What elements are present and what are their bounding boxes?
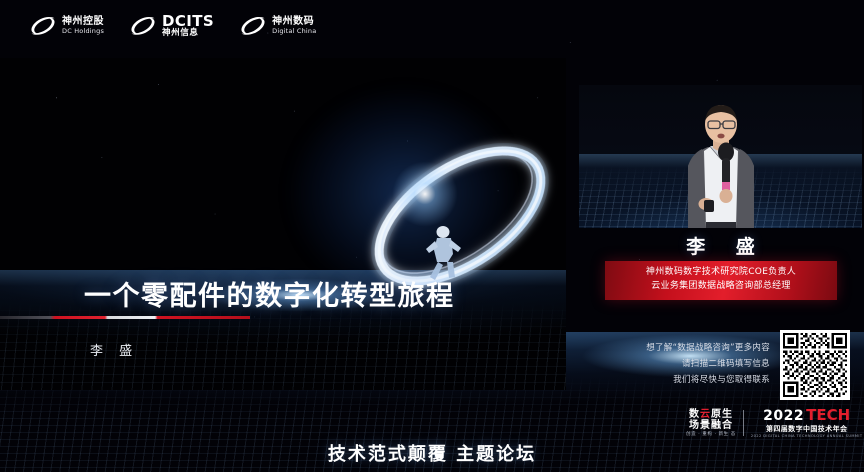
- forum-title-text: 技术范式颠覆 主题论坛: [328, 444, 536, 465]
- slide-speaker-name: 李 盛: [90, 340, 138, 359]
- event-theme-line-1-b: 原生: [711, 409, 733, 420]
- event-branding: 数云原生 场景融合 创造 · 重构 · 新生 态 2022TECH 第四届数字中…: [686, 408, 862, 438]
- speaker-role-banner: 神州数码数字技术研究院COE负责人 云业务集团数据战略咨询部总经理: [605, 261, 837, 300]
- event-year-row: 2022TECH: [763, 408, 850, 424]
- swoosh-icon: [30, 16, 56, 36]
- swoosh-icon: [130, 16, 156, 36]
- branding-divider: [743, 410, 744, 436]
- event-theme-line-2: 场景融合: [689, 420, 733, 431]
- logo-label-en: Digital China: [272, 28, 316, 35]
- speaker-role-line-2: 云业务集团数据战略咨询部总经理: [605, 280, 837, 294]
- event-year: 2022: [763, 409, 804, 424]
- event-theme-line-1: 数云原生: [689, 409, 733, 420]
- logo-dc-holdings: 神州控股 DC Holdings: [30, 16, 104, 36]
- event-theme-logo: 数云原生 场景融合 创造 · 重构 · 新生 态: [686, 409, 736, 438]
- event-summit-name-en: 2022 DIGITAL CHINA TECHNOLOGY ANNUAL SUM…: [751, 435, 863, 439]
- qr-line-2: 请扫描二维码填写信息: [600, 357, 770, 373]
- swoosh-icon: [240, 16, 266, 36]
- event-theme-line-1-highlight: 云: [700, 409, 711, 420]
- qr-line-1: 想了解“数据战略咨询”更多内容: [600, 341, 770, 357]
- ring-starburst: [377, 146, 473, 242]
- logo-digital-china: 神州数码 Digital China: [240, 16, 316, 36]
- qr-section: 想了解“数据战略咨询”更多内容 请扫描二维码填写信息 我们将尽快与您取得联系: [600, 330, 850, 400]
- presenter-video[interactable]: [579, 85, 862, 228]
- qr-line-3: 我们将尽快与您取得联系: [600, 373, 770, 389]
- logo-label-en: DC Holdings: [62, 28, 104, 35]
- logo-label-cn: 神州信息: [162, 29, 214, 38]
- event-tech-wordmark: TECH: [806, 408, 850, 424]
- logo-dcits: DCITS 神州信息: [130, 14, 214, 38]
- logo-label-en: DCITS: [162, 14, 214, 29]
- brand-logo-bar: 神州控股 DC Holdings DCITS 神州信息 神州数码 Digital…: [30, 14, 316, 38]
- broadcast-screen: 神州控股 DC Holdings DCITS 神州信息 神州数码 Digital…: [0, 0, 864, 472]
- speaker-role-line-1: 神州数码数字技术研究院COE负责人: [605, 266, 837, 280]
- forum-title: 技术范式颠覆 主题论坛: [0, 440, 864, 466]
- qr-instructions: 想了解“数据战略咨询”更多内容 请扫描二维码填写信息 我们将尽快与您取得联系: [600, 341, 770, 388]
- event-theme-tagline: 创造 · 重构 · 新生 态: [686, 433, 736, 438]
- bottom-bar: 数云原生 场景融合 创造 · 重构 · 新生 态 2022TECH 第四届数字中…: [0, 404, 864, 472]
- slide-title: 一个零配件的数字化转型旅程: [84, 274, 455, 313]
- presenter-figure: [658, 104, 784, 228]
- event-summit-name-cn: 第四届数字中国技术年会: [766, 426, 847, 433]
- qr-code-image: [783, 333, 847, 397]
- speaker-name: 李 盛: [579, 232, 862, 259]
- presentation-slide[interactable]: 一个零配件的数字化转型旅程 李 盛: [0, 58, 566, 390]
- event-summit-logo: 2022TECH 第四届数字中国技术年会 2022 DIGITAL CHINA …: [751, 408, 863, 438]
- event-theme-line-1-a: 数: [689, 409, 700, 420]
- qr-code[interactable]: [780, 330, 850, 400]
- title-divider: [0, 316, 250, 319]
